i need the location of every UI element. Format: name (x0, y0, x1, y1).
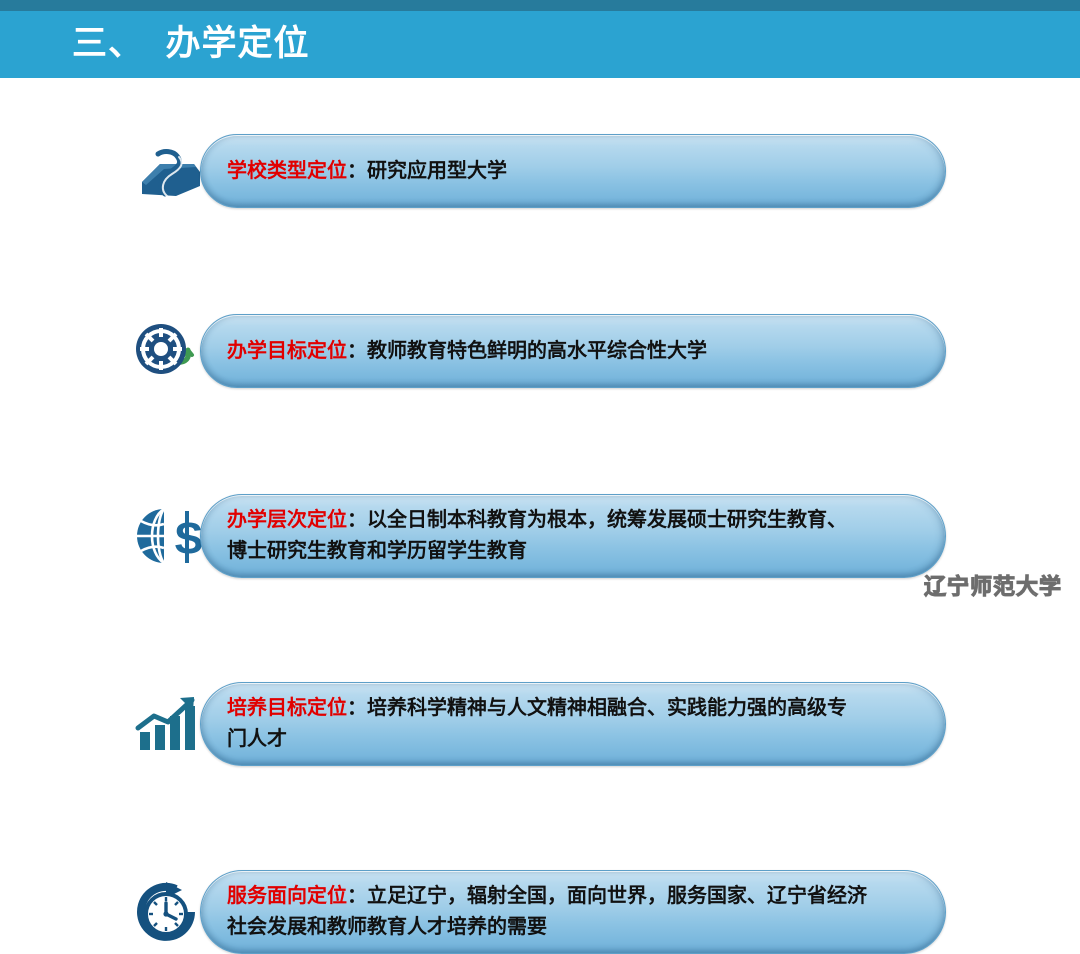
item-text: 培养目标定位：培养科学精神与人文精神相融合、实践能力强的高级专 门人才 (227, 693, 847, 755)
list-item: 学校类型定位：研究应用型大学 (0, 106, 1080, 180)
item-label: 学校类型定位 (227, 160, 347, 182)
item-colon: ： (347, 160, 367, 182)
list-item: 服务面向定位：立足辽宁，辐射全国，面向世界，服务国家、辽宁省经济 社会发展和教师… (0, 474, 1080, 558)
header-top-accent-strip (0, 0, 1080, 11)
item-pill[interactable]: 培养目标定位：培养科学精神与人文精神相融合、实践能力强的高级专 门人才 (200, 682, 946, 766)
item-pill[interactable]: 服务面向定位：立足辽宁，辐射全国，面向世界，服务国家、辽宁省经济 社会发展和教师… (200, 870, 946, 954)
list-item: 培养目标定位：培养科学精神与人文精神相融合、实践能力强的高级专 门人才 (0, 380, 1080, 464)
item-colon: ： (347, 697, 367, 719)
positioning-items-list: 学校类型定位：研究应用型大学 (0, 78, 1080, 607)
item-text: 服务面向定位：立足辽宁，辐射全国，面向世界，服务国家、辽宁省经济 社会发展和教师… (227, 881, 867, 943)
item-label: 培养目标定位 (227, 697, 347, 719)
list-item: 办学目标定位：教师教育特色鲜明的高水平综合性大学 (0, 196, 1080, 270)
item-text: 学校类型定位：研究应用型大学 (227, 156, 507, 187)
university-watermark: 辽宁师范大学 (924, 569, 1062, 601)
item-body: 研究应用型大学 (367, 160, 507, 182)
item-label: 服务面向定位 (227, 885, 347, 907)
list-item: S 办学层次定位：以全日制本科教育为根本，统筹发展硕士研究生教育、 博士研究生教… (0, 286, 1080, 370)
page-title: 三、 办学定位 (72, 22, 309, 66)
item-colon: ： (347, 885, 367, 907)
